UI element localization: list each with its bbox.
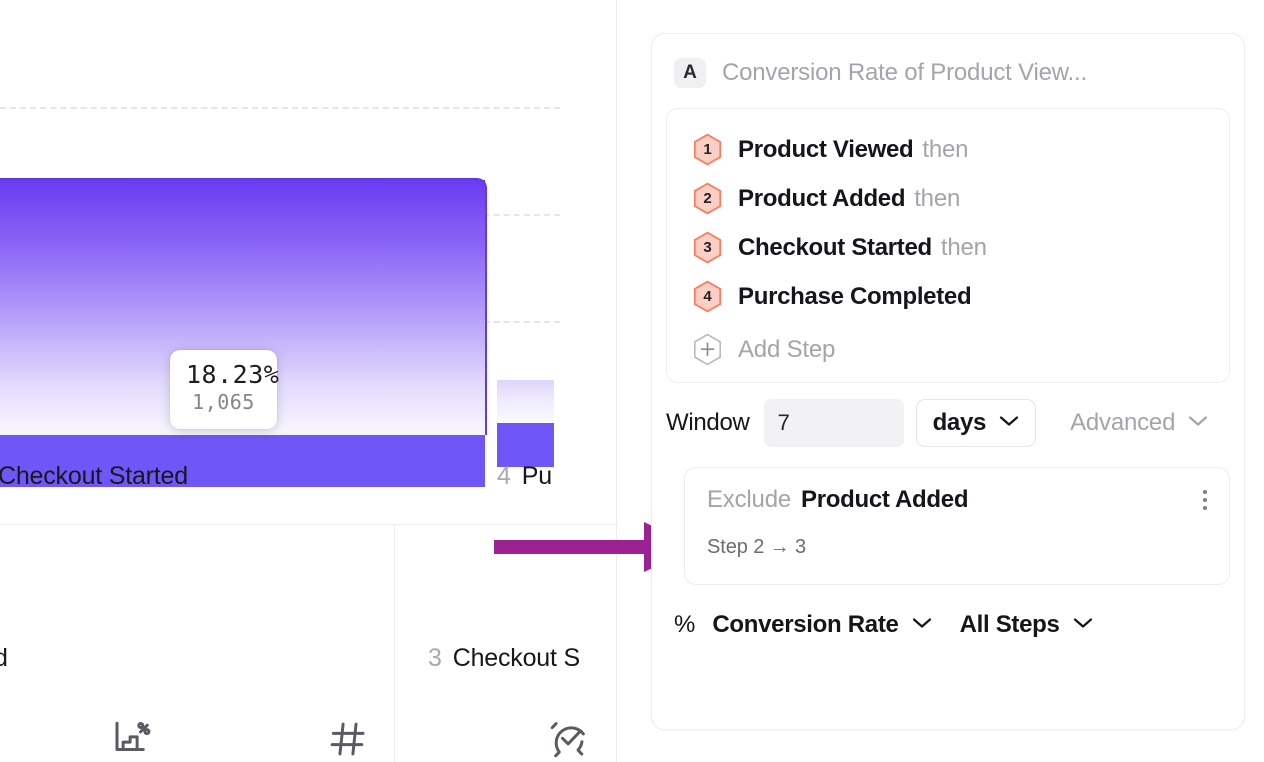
step-number-hexagon-icon: 1 — [693, 133, 722, 166]
step-name: Product Added — [738, 185, 905, 212]
card-vertical-divider — [394, 524, 395, 762]
bottom-card-number: 3 — [428, 644, 442, 672]
tooltip-count: 1,065 — [186, 389, 261, 416]
panel-header: A Conversion Rate of Product View... — [652, 34, 1244, 108]
funnel-step-2[interactable]: 2 Product Addedthen — [667, 174, 1229, 223]
percent-icon: % — [674, 611, 695, 639]
panel-footer: % Conversion Rate All Steps — [652, 585, 1244, 639]
exclude-rule-card[interactable]: Exclude Product Added Step 2 → 3 — [684, 467, 1230, 585]
bottom-card-title-right: 3Checkout S — [428, 644, 580, 673]
window-unit-select[interactable]: days — [916, 399, 1037, 447]
funnel-bar-purchase-completed-base — [497, 423, 554, 467]
hash-icon[interactable] — [327, 718, 369, 762]
bottom-card-text: d — [0, 644, 8, 672]
funnel-bar-base-fill — [497, 423, 554, 467]
step-name: Checkout Started — [738, 234, 932, 261]
exclude-event-name[interactable]: Product Added — [801, 486, 968, 514]
step-name: Product Viewed — [738, 136, 913, 163]
chart-tooltip: 18.23% 1,065 — [170, 350, 277, 429]
step-number-hexagon-icon: 3 — [693, 231, 722, 264]
window-value-input[interactable] — [764, 399, 904, 447]
step-label: Purchase Completed — [738, 283, 980, 311]
bottom-card-title-left: d — [0, 644, 8, 673]
axis-label-purchase-completed: 4Pu — [497, 462, 552, 491]
add-step-button[interactable]: Add Step — [667, 321, 1229, 372]
step-number: 3 — [693, 231, 722, 264]
advanced-toggle[interactable]: Advanced — [1070, 409, 1208, 437]
axis-label-checkout-started: Checkout Started — [0, 462, 188, 491]
metric-select[interactable]: Conversion Rate — [712, 611, 931, 639]
funnel-step-4[interactable]: 4 Purchase Completed — [667, 272, 1229, 321]
query-letter-badge[interactable]: A — [674, 58, 706, 88]
chevron-down-icon — [1073, 616, 1093, 634]
kebab-dot — [1203, 506, 1207, 510]
funnel-chart-pane: 18.23% 1,065 Checkout Started 4Pu d 3Che… — [0, 0, 618, 762]
exclude-step-range[interactable]: Step 2 → 3 — [707, 536, 1211, 559]
step-number: 1 — [693, 133, 722, 166]
kebab-dot — [1203, 498, 1207, 502]
axis-label-text: Pu — [522, 462, 552, 490]
step-connector: then — [914, 185, 960, 212]
funnel-bar-purchase-completed[interactable] — [497, 380, 554, 423]
axis-label-text: Checkout Started — [0, 462, 188, 490]
funnel-step-1[interactable]: 1 Product Viewedthen — [667, 125, 1229, 174]
chevron-down-icon — [1188, 414, 1208, 432]
axis-label-number: 4 — [497, 462, 511, 490]
advanced-label: Advanced — [1070, 409, 1175, 437]
gridline — [0, 107, 560, 109]
step-label: Product Addedthen — [738, 185, 960, 213]
more-options-icon[interactable] — [1203, 490, 1207, 510]
funnel-step-3[interactable]: 3 Checkout Startedthen — [667, 223, 1229, 272]
chart-divider — [0, 524, 420, 525]
plus-hexagon-icon — [693, 333, 722, 366]
step-label: Checkout Startedthen — [738, 234, 987, 262]
add-step-label: Add Step — [738, 336, 835, 364]
tooltip-percent: 18.23% — [186, 361, 261, 389]
window-unit-label: days — [933, 409, 987, 437]
app-root: 18.23% 1,065 Checkout Started 4Pu d 3Che… — [0, 0, 1264, 762]
funnel-bar-gradient — [497, 380, 554, 423]
pane-divider — [616, 0, 617, 762]
chevron-down-icon — [912, 616, 932, 634]
chevron-down-icon — [999, 414, 1019, 432]
bottom-card-text: Checkout S — [453, 644, 580, 672]
window-label: Window — [666, 409, 750, 437]
scope-label: All Steps — [960, 611, 1060, 639]
panel-title[interactable]: Conversion Rate of Product View... — [722, 59, 1087, 87]
step-connector: then — [922, 136, 968, 163]
exclude-rule-headline: Exclude Product Added — [707, 486, 1211, 514]
step-name: Purchase Completed — [738, 283, 971, 310]
step-number: 4 — [693, 280, 722, 313]
step-number: 2 — [693, 182, 722, 215]
scope-select[interactable]: All Steps — [960, 611, 1093, 639]
window-row: Window days Advanced — [652, 383, 1244, 447]
step-number-hexagon-icon: 4 — [693, 280, 722, 313]
funnel-config-panel: A Conversion Rate of Product View... 1 P… — [651, 33, 1245, 730]
step-label: Product Viewedthen — [738, 136, 968, 164]
exclude-prefix: Exclude — [707, 486, 791, 514]
funnel-steps-card: 1 Product Viewedthen 2 Product Addedthen — [666, 108, 1230, 383]
step-number-hexagon-icon: 2 — [693, 182, 722, 215]
step-connector: then — [941, 234, 987, 261]
metric-label: Conversion Rate — [712, 611, 898, 639]
funnel-percent-icon[interactable] — [110, 718, 152, 762]
clock-check-icon[interactable] — [548, 718, 590, 762]
kebab-dot — [1203, 490, 1207, 494]
